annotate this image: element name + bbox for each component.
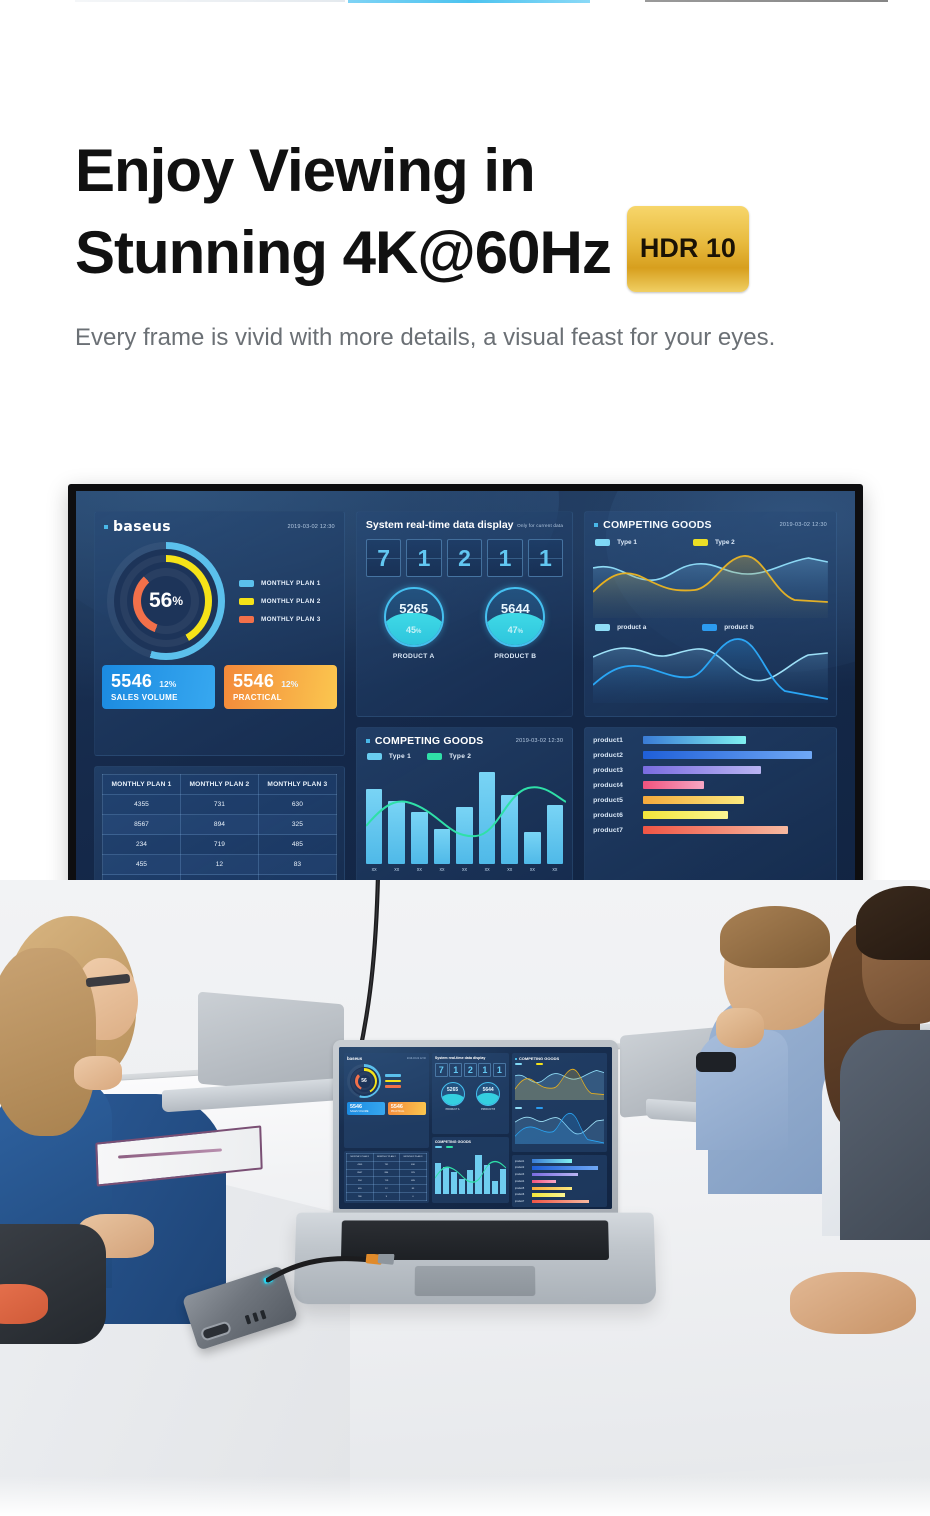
bar [547, 805, 564, 864]
hbar-row: product6 [593, 811, 827, 819]
table-row: 8567 894 325 [103, 815, 337, 835]
sliver-center [348, 0, 590, 3]
mini-col-left: baseus 2019-03-02 12:30 [344, 1053, 429, 1203]
hdr10-badge: HDR 10 [627, 206, 749, 292]
mini-realtime-title: System real-time data display [435, 1056, 506, 1060]
table-cell: 455 [103, 855, 181, 875]
legend-label-type1: Type 1 [389, 753, 411, 760]
bullet-square-icon [594, 523, 598, 527]
xtick: xx [388, 867, 405, 873]
bar-card-header: COMPETING GOODS 2019-03-02 12:30 [357, 728, 572, 749]
gauge-percent-unit: % [518, 629, 523, 635]
hbar-fill [643, 811, 728, 819]
bar [388, 801, 405, 864]
hbar-label: product2 [593, 752, 636, 759]
mini-kpi-label: SALES VOLUME [350, 1110, 382, 1113]
gauge-percent-number: 45 [406, 625, 416, 635]
person-right-man-dark [846, 880, 930, 1240]
headline-line-2-row: Stunning 4K@60Hz HDR 10 [75, 210, 855, 296]
legend-label-plan2: MONTHLY PLAN 2 [261, 598, 321, 605]
product-hbar-card: product1 product2 [584, 727, 837, 903]
hbar-fill [643, 796, 744, 804]
monthly-plan-table: MONTHLY PLAN 1 MONTHLY PLAN 2 MONTHLY PL… [102, 774, 337, 895]
gauge-label: PRODUCT A [384, 653, 444, 660]
table-cell: 731 [180, 795, 258, 815]
dashboard-right-column: COMPETING GOODS 2019-03-02 12:30 Type 1 [584, 511, 837, 903]
tv-screen: baseus 2019-03-02 12:30 [76, 491, 855, 923]
hub-usb-port [252, 1312, 259, 1322]
person-man-hair [720, 906, 830, 968]
bar [479, 772, 496, 864]
legend-swatch-plan1 [239, 580, 254, 587]
table-cell: 719 [180, 835, 258, 855]
mini-col-right: COMPETING GOODS [512, 1053, 607, 1203]
gauge-percent: 45% [386, 625, 442, 635]
mini-gauge-value: 5644 [477, 1087, 499, 1093]
gauge-label: PRODUCT B [485, 653, 545, 660]
kpi-label: SALES VOLUME [111, 693, 206, 702]
mini-bar-card: COMPETING GOODS [432, 1137, 509, 1203]
hbar-label: product4 [593, 782, 636, 789]
overview-timestamp: 2019-03-02 12:30 [288, 524, 335, 530]
tv-bezel: baseus 2019-03-02 12:30 [68, 484, 863, 932]
realtime-card-title: System real-time data display [366, 519, 514, 531]
legend-swatch-product-b [702, 624, 717, 631]
realtime-data-card: System real-time data display Only for c… [356, 511, 573, 717]
table-cell: 630 [258, 795, 336, 815]
legend-item: MONTHLY PLAN 2 [239, 598, 321, 605]
area-chart-top [593, 548, 828, 618]
mini-overview-card: baseus 2019-03-02 12:30 [344, 1053, 429, 1148]
table-header-cell: MONTHLY PLAN 2 [180, 775, 258, 795]
gauge-circle: 5644 47% [485, 587, 545, 647]
wall-mounted-tv: baseus 2019-03-02 12:30 [68, 484, 863, 932]
table-header-row: MONTHLY PLAN 1 MONTHLY PLAN 2 MONTHLY PL… [103, 775, 337, 795]
mini-realtime-card: System real-time data display 7 1 2 1 1 [432, 1053, 509, 1134]
hbar-track [643, 796, 827, 804]
table-header-cell: MONTHLY PLAN 3 [258, 775, 336, 795]
gauge-percent-unit: % [416, 629, 421, 635]
brand-block: baseus [104, 519, 171, 535]
bar [366, 789, 383, 864]
donut-chart: 56% [107, 542, 225, 660]
legend-label-type2: Type 2 [715, 539, 735, 546]
bar-chart-legend: Type 1 Type 2 [357, 749, 572, 760]
hbar-row: product2 [593, 751, 827, 759]
conference-room-scene: baseus 2019-03-02 12:30 [0, 880, 930, 1516]
dashboard-left-column: baseus 2019-03-02 12:30 [94, 511, 345, 903]
bar [456, 807, 473, 864]
hbar-row: product3 [593, 766, 827, 774]
gauge-product-b: 5644 47% PRODUCT B [485, 587, 545, 660]
hbar-label: product6 [593, 812, 636, 819]
table-cell: 894 [180, 815, 258, 835]
table-cell: 325 [258, 815, 336, 835]
kpi-row: 5546 12% SALES VOLUME 5546 12% PR [95, 665, 344, 718]
mini-timestamp: 2019-03-02 12:30 [407, 1057, 426, 1060]
dashboard-middle-column: System real-time data display Only for c… [356, 511, 573, 903]
hbar-track [643, 736, 827, 744]
hbar-fill [643, 826, 788, 834]
xtick: xx [479, 867, 496, 873]
legend-item: MONTHLY PLAN 1 [239, 580, 321, 587]
digit-cell: 2 [447, 539, 482, 577]
bar-chart-xaxis: xx xx xx xx xx xx xx xx xx [357, 864, 572, 880]
hbar-label: product5 [593, 797, 636, 804]
mini-gauge-value: 5265 [442, 1087, 464, 1093]
table-cell: 4355 [103, 795, 181, 815]
person-left-hair-back [0, 948, 96, 1136]
legend-item: Type 1 [367, 753, 411, 760]
kpi-label: PRACTICAL [233, 693, 328, 702]
headline-line-1: Enjoy Viewing in [75, 132, 855, 210]
hbar-track [643, 826, 827, 834]
xtick: xx [456, 867, 473, 873]
donut-chart-row: 56% MONTHLY PLAN 1 MONTHLY P [95, 537, 344, 665]
area-chart-bottom [593, 633, 828, 703]
bar-chart-plot [357, 760, 572, 864]
legend-label-type2: Type 2 [449, 753, 471, 760]
gauge-group: 5265 45% PRODUCT A [357, 581, 572, 668]
area-legend-top: Type 1 Type 2 [585, 533, 836, 546]
hbar-label: product1 [593, 737, 636, 744]
legend-item: product b [702, 624, 753, 631]
hbar-fill [643, 766, 761, 774]
legend-item: MONTHLY PLAN 3 [239, 616, 321, 623]
mini-kpi-orange: 5546 PRACTICAL [388, 1102, 426, 1115]
table-header-cell: MONTHLY PLAN 1 [103, 775, 181, 795]
baseus-logo: baseus [113, 519, 171, 535]
table-cell: 83 [258, 855, 336, 875]
mini-digit: 2 [464, 1063, 477, 1077]
hbar-row: product4 [593, 781, 827, 789]
bar [524, 832, 541, 864]
mini-digit: 1 [449, 1063, 462, 1077]
xtick: xx [501, 867, 518, 873]
hbar-label: product3 [593, 767, 636, 774]
legend-item: Type 1 [595, 539, 637, 546]
legend-swatch-plan3 [239, 616, 254, 623]
kpi-value: 5546 [233, 671, 274, 692]
mini-col-middle: System real-time data display 7 1 2 1 1 [432, 1053, 509, 1203]
mini-digit: 1 [493, 1063, 506, 1077]
mini-gauge-label: PRODUCT A [441, 1108, 465, 1111]
mini-bar-title: COMPETING GOODS [435, 1140, 506, 1144]
digit-counter-group: 7 1 2 1 1 [357, 533, 572, 581]
legend-swatch-type2 [693, 539, 708, 546]
mini-digit: 7 [435, 1063, 448, 1077]
area-card-header: COMPETING GOODS 2019-03-02 12:30 [585, 512, 836, 533]
legend-item: product a [595, 624, 646, 631]
gauge-circle: 5265 45% [384, 587, 444, 647]
xtick: xx [411, 867, 428, 873]
laptop-lid: baseus 2019-03-02 12:30 [333, 1040, 618, 1218]
table-row: 455 12 83 [103, 855, 337, 875]
person-man-hand [716, 1008, 764, 1048]
hbar-label: product7 [593, 827, 636, 834]
person-dark-hair [856, 886, 930, 960]
legend-item: Type 2 [693, 539, 735, 546]
legend-swatch-type1 [595, 539, 610, 546]
legend-swatch-type2 [427, 753, 442, 760]
table-cell: 234 [103, 835, 181, 855]
donut-legend: MONTHLY PLAN 1 MONTHLY PLAN 2 MONTHLY PL… [239, 580, 321, 623]
legend-swatch-type1 [367, 753, 382, 760]
bullet-square-icon [366, 739, 370, 743]
kpi-percent: 12% [281, 679, 298, 689]
previous-section-sliver [0, 0, 930, 3]
person-man-arm [696, 1030, 788, 1150]
bar [434, 829, 451, 864]
donut-center-value: 56% [107, 542, 225, 660]
hub-usbc-cable [266, 1254, 396, 1304]
clasped-hands [790, 1272, 916, 1334]
foreground-object [0, 1284, 48, 1324]
gauge-product-a: 5265 45% PRODUCT A [384, 587, 444, 660]
hbar-fill [643, 736, 746, 744]
dashboard: baseus 2019-03-02 12:30 [76, 491, 855, 923]
sliver-left [75, 0, 345, 2]
gauge-percent: 47% [487, 625, 543, 635]
kpi-card-practical: 5546 12% PRACTICAL [224, 665, 337, 709]
mini-donut-value: 56 [347, 1064, 381, 1098]
table-row: 234 719 485 [103, 835, 337, 855]
bullet-square-icon [104, 525, 108, 529]
hub-vga-port [200, 1320, 233, 1342]
kpi-percent: 12% [159, 679, 176, 689]
mini-gauge-a: 5265 PRODUCT A [441, 1082, 465, 1111]
table-cell: 485 [258, 835, 336, 855]
kpi-top-row: 5546 12% [233, 671, 328, 692]
xtick: xx [366, 867, 383, 873]
xtick: xx [547, 867, 564, 873]
competing-goods-bar-card: COMPETING GOODS 2019-03-02 12:30 Type 1 [356, 727, 573, 903]
mini-gauge-b: 5644 PRODUCT B [476, 1082, 500, 1111]
digit-cell: 1 [406, 539, 441, 577]
gauge-percent-number: 47 [508, 625, 518, 635]
donut-value-number: 56 [149, 589, 172, 613]
person-man-watch [696, 1052, 736, 1072]
sliver-right [645, 0, 888, 2]
gauge-value: 5644 [487, 601, 543, 616]
hbar-track [643, 781, 827, 789]
overview-card: baseus 2019-03-02 12:30 [94, 511, 345, 756]
bar-card-timestamp: 2019-03-02 12:30 [516, 738, 563, 744]
person-dark-torso [840, 1030, 930, 1240]
competing-goods-area-card: COMPETING GOODS 2019-03-02 12:30 Type 1 [584, 511, 837, 717]
mini-donut: 56 [347, 1064, 381, 1098]
bottom-fade [0, 1476, 930, 1516]
digit-cell: 7 [366, 539, 401, 577]
mini-kpi-blue: 5546 SALES VOLUME [347, 1102, 385, 1115]
realtime-card-header: System real-time data display Only for c… [357, 512, 572, 533]
page-subtitle: Every frame is vivid with more details, … [75, 317, 855, 359]
mini-brand: baseus [347, 1056, 362, 1061]
laptop-screen: baseus 2019-03-02 12:30 [339, 1047, 612, 1209]
usb-c-hub [180, 1260, 320, 1352]
legend-label-plan1: MONTHLY PLAN 1 [261, 580, 321, 587]
headline-line-2: Stunning 4K@60Hz [75, 214, 611, 292]
area-chart-bottom-svg [593, 633, 828, 703]
kpi-value: 5546 [111, 671, 152, 692]
gauge-value: 5265 [386, 601, 442, 616]
overview-card-header: baseus 2019-03-02 12:30 [95, 512, 344, 537]
legend-label-type1: Type 1 [617, 539, 637, 546]
area-legend-mid: product a product b [585, 618, 836, 631]
table-cell: 12 [180, 855, 258, 875]
table-row: 4355 731 630 [103, 795, 337, 815]
bar-card-title-block: COMPETING GOODS [366, 735, 484, 747]
hbar-row: product7 [593, 826, 827, 834]
area-card-title: COMPETING GOODS [603, 519, 712, 531]
hbar-row: product1 [593, 736, 827, 744]
mini-area-title: COMPETING GOODS [519, 1056, 559, 1061]
digit-cell: 1 [487, 539, 522, 577]
mini-table-card: MONTHLY PLAN 1MONTHLY PLAN 2MONTHLY PLAN… [344, 1151, 429, 1203]
mini-kpi-label: PRACTICAL [391, 1110, 423, 1113]
bar-card-title: COMPETING GOODS [375, 735, 484, 747]
hbar-list: product1 product2 [585, 728, 836, 842]
area-chart-top-svg [593, 548, 828, 618]
mini-area-card: COMPETING GOODS [512, 1053, 607, 1152]
hub-usb-port [260, 1310, 267, 1320]
kpi-card-sales-volume: 5546 12% SALES VOLUME [102, 665, 215, 709]
mini-digit: 1 [478, 1063, 491, 1077]
legend-label-product-b: product b [724, 624, 753, 631]
bar [411, 812, 428, 864]
hbar-track [643, 751, 827, 759]
person-left-neck [74, 1056, 122, 1090]
realtime-card-note: Only for current data [517, 523, 563, 528]
legend-swatch-product-a [595, 624, 610, 631]
xtick: xx [524, 867, 541, 873]
legend-swatch-plan2 [239, 598, 254, 605]
mini-hbar-card: product1 product2 product3 product4 prod… [512, 1155, 607, 1207]
legend-label-product-a: product a [617, 624, 646, 631]
hbar-track [643, 811, 827, 819]
xtick: xx [434, 867, 451, 873]
mini-table: MONTHLY PLAN 1MONTHLY PLAN 2MONTHLY PLAN… [346, 1153, 427, 1201]
bar [501, 795, 518, 864]
laptop-trackpad[interactable] [415, 1266, 536, 1296]
hbar-fill [643, 781, 704, 789]
area-card-title-block: COMPETING GOODS [594, 519, 712, 531]
hub-port-group [245, 1310, 267, 1325]
legend-label-plan3: MONTHLY PLAN 3 [261, 616, 321, 623]
hbar-track [643, 766, 827, 774]
hbar-fill [643, 751, 812, 759]
legend-item: Type 2 [427, 753, 471, 760]
table-cell: 8567 [103, 815, 181, 835]
mini-gauge-label: PRODUCT B [476, 1108, 500, 1111]
area-card-timestamp: 2019-03-02 12:30 [780, 522, 827, 528]
kpi-top-row: 5546 12% [111, 671, 206, 692]
hub-usb-port [245, 1315, 252, 1325]
donut-value-unit: % [172, 594, 183, 608]
laptop-dashboard-mirror: baseus 2019-03-02 12:30 [339, 1047, 612, 1209]
digit-cell: 1 [528, 539, 563, 577]
hbar-row: product5 [593, 796, 827, 804]
page-title: Enjoy Viewing in Stunning 4K@60Hz HDR 10 [75, 132, 855, 296]
